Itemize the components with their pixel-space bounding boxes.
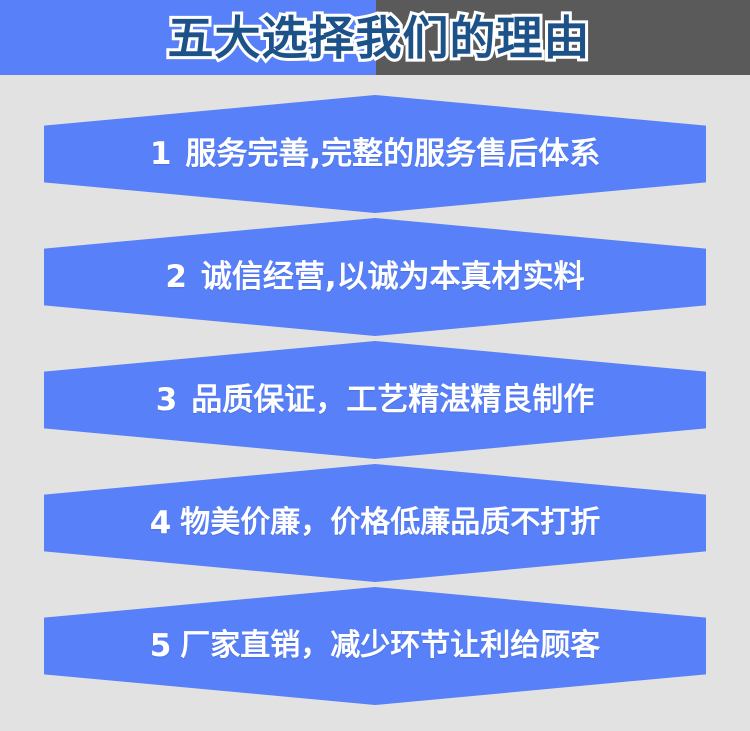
reason-number: 5: [150, 631, 172, 662]
reason-text: 1 服务完善,完整的服务售后体系: [44, 95, 706, 213]
reason-item-1[interactable]: 1 服务完善,完整的服务售后体系: [0, 95, 750, 218]
reason-text: 3 品质保证，工艺精湛精良制作: [44, 341, 706, 459]
reason-text: 5 厂家直销，减少环节让利给顾客: [44, 587, 706, 705]
reason-list: 1 服务完善,完整的服务售后体系 2 诚信经营,以诚为本真材实料 3 品质保证，…: [0, 75, 750, 731]
reason-item-2[interactable]: 2 诚信经营,以诚为本真材实料: [0, 218, 750, 341]
reason-text: 4 物美价廉，价格低廉品质不打折: [44, 464, 706, 582]
reason-number: 1: [150, 139, 172, 170]
promo-page: 五大选择我们的理由 1 服务完善,完整的服务售后体系 2 诚信经营,以诚为本真材…: [0, 0, 750, 731]
page-title: 五大选择我们的理由: [0, 0, 750, 75]
reason-item-3[interactable]: 3 品质保证，工艺精湛精良制作: [0, 341, 750, 464]
reason-label: 品质保证，工艺精湛精良制作: [191, 385, 594, 416]
reason-item-4[interactable]: 4 物美价廉，价格低廉品质不打折: [0, 464, 750, 587]
reason-label: 诚信经营,以诚为本真材实料: [201, 262, 585, 293]
reason-number: 2: [165, 262, 187, 293]
header-banner: 五大选择我们的理由: [0, 0, 750, 75]
reason-item-5[interactable]: 5 厂家直销，减少环节让利给顾客: [0, 587, 750, 710]
reason-label: 物美价廉，价格低廉品质不打折: [180, 508, 600, 538]
reason-label: 服务完善,完整的服务售后体系: [185, 139, 600, 170]
reason-number: 3: [156, 385, 178, 416]
reason-label: 厂家直销，减少环节让利给顾客: [180, 631, 600, 661]
reason-number: 4: [150, 508, 172, 539]
reason-text: 2 诚信经营,以诚为本真材实料: [44, 218, 706, 336]
